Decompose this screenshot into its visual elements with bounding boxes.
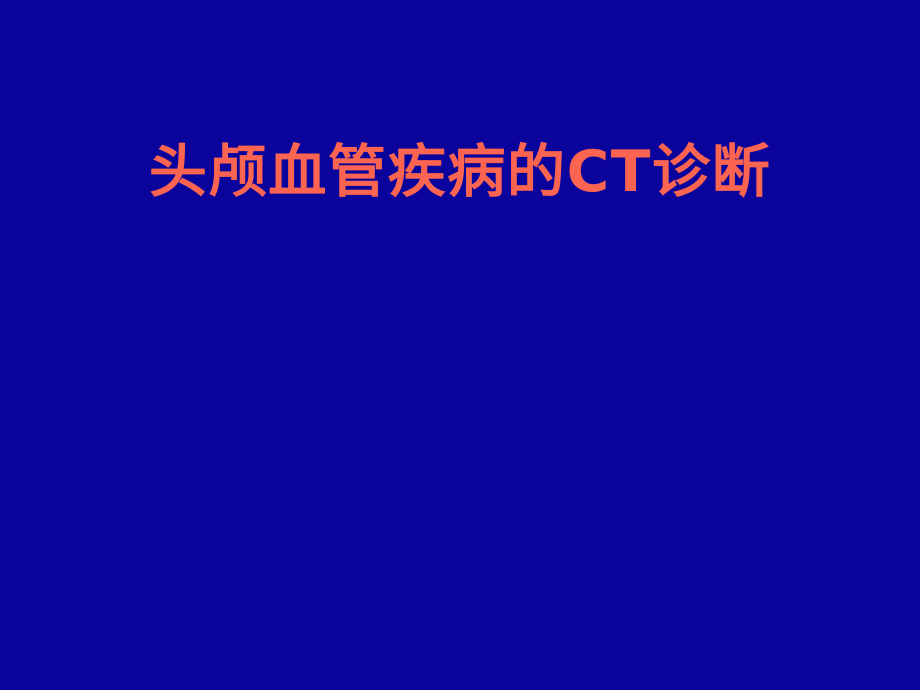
slide-title-placeholder[interactable]: 头颅血管疾病的CT诊断 <box>0 128 920 218</box>
slide-body-placeholder[interactable] <box>60 240 860 640</box>
page-title: 头颅血管疾病的CT诊断 <box>149 143 771 203</box>
presentation-slide: 头颅血管疾病的CT诊断 <box>0 0 920 690</box>
